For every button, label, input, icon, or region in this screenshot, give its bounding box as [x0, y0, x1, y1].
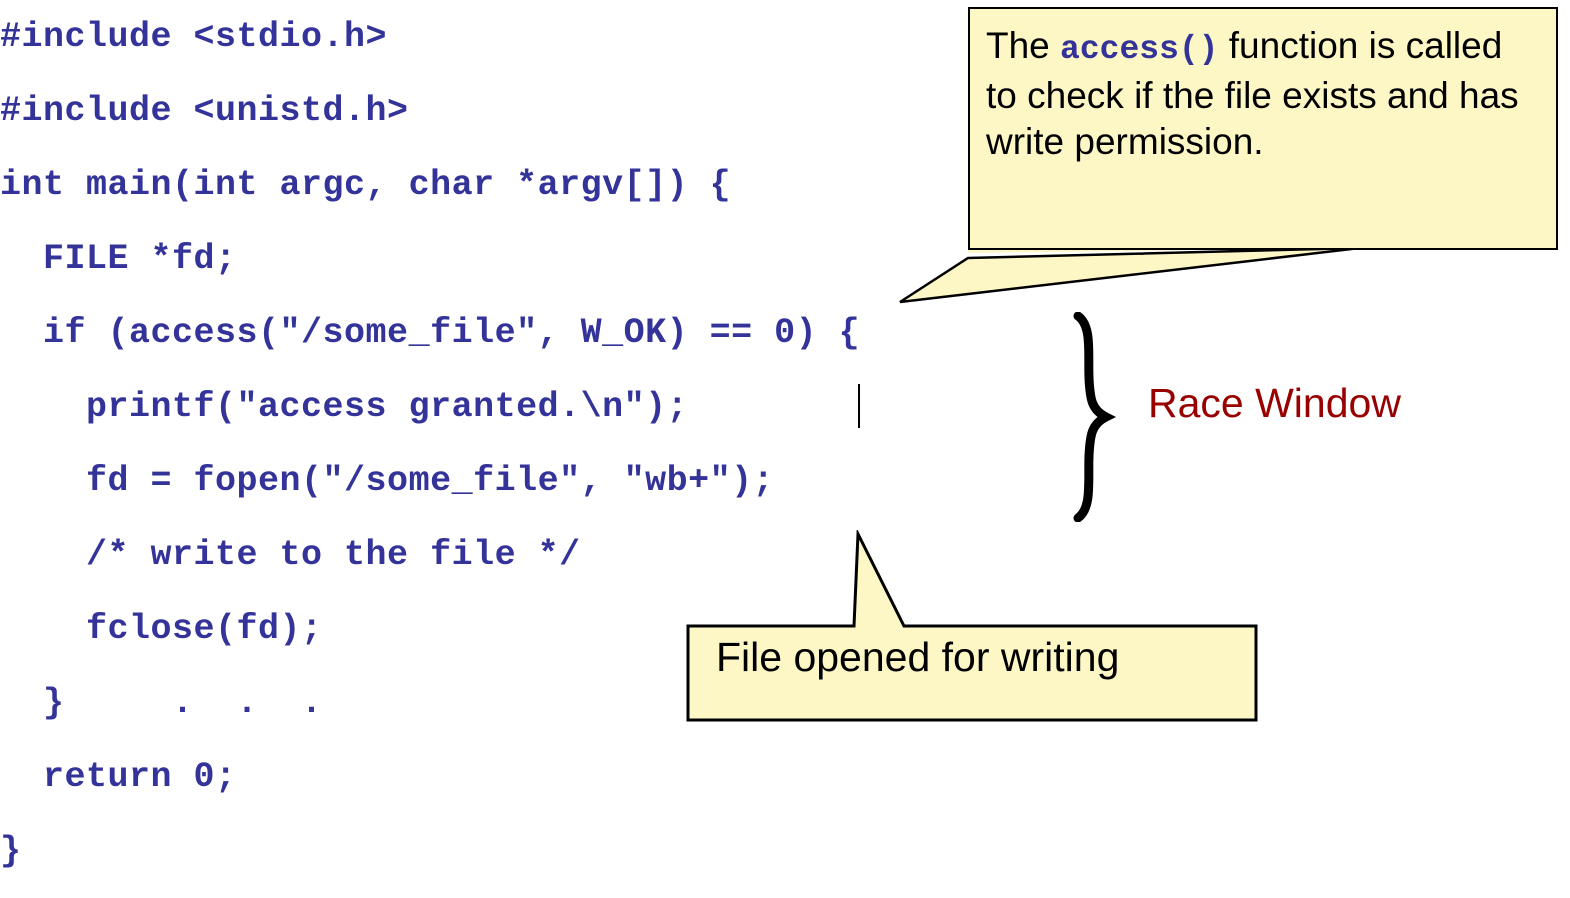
callout-text-before: The	[986, 25, 1060, 66]
text-cursor-icon	[858, 384, 860, 428]
code-line: #include <unistd.h>	[0, 74, 1120, 148]
callout-access-tail-icon	[900, 240, 1380, 310]
callout-code-span: access()	[1060, 31, 1218, 68]
code-line: int main(int argc, char *argv[]) {	[0, 148, 1120, 222]
callout-access-explanation: The access() function is called to check…	[968, 7, 1558, 250]
code-line: fd = fopen("/some_file", "wb+");	[0, 444, 1120, 518]
callout-file-opened-label: File opened for writing	[716, 634, 1119, 681]
code-listing: #include <stdio.h> #include <unistd.h> i…	[0, 0, 1120, 888]
code-line: }	[0, 814, 1120, 888]
code-line: #include <stdio.h>	[0, 0, 1120, 74]
callout-file-opened	[686, 530, 1258, 722]
callout-access-text: The access() function is called to check…	[986, 23, 1542, 165]
race-window-label: Race Window	[1148, 380, 1401, 427]
code-line: printf("access granted.\n");	[0, 370, 1120, 444]
race-window-brace-icon	[1062, 312, 1122, 522]
code-line: return 0;	[0, 740, 1120, 814]
